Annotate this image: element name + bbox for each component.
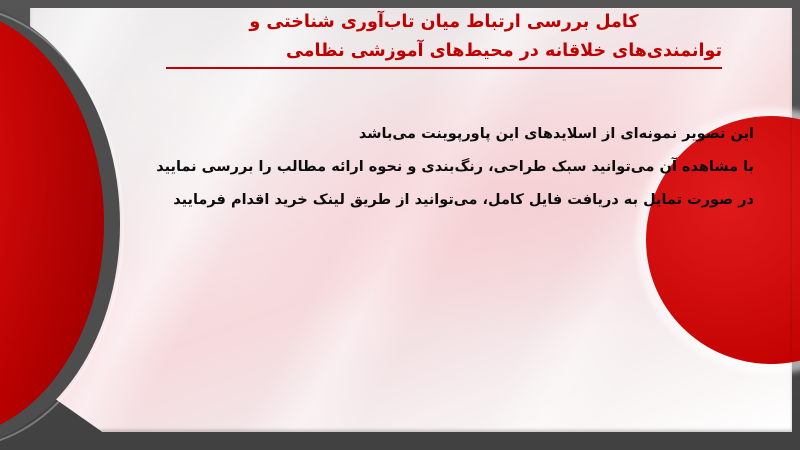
slide-body: این تصویر نمونه‌ای از اسلایدهای این پاور… [114,118,754,217]
body-line-1: این تصویر نمونه‌ای از اسلایدهای این پاور… [114,118,754,151]
presentation-slide: کامل بررسی ارتباط میان تاب‌آوری شناختی و… [0,0,800,450]
slide-title-line-2: توانمندی‌های خلاقانه در محیط‌های آموزشی … [166,37,722,69]
slide-title: کامل بررسی ارتباط میان تاب‌آوری شناختی و… [134,8,754,69]
slide-title-line-2-wrapper: توانمندی‌های خلاقانه در محیط‌های آموزشی … [134,37,754,69]
body-line-3: در صورت تمایل به دریافت فایل کامل، می‌تو… [114,184,754,217]
body-line-2: با مشاهده آن می‌توانید سبک طراحی، رنگ‌بن… [114,151,754,184]
slide-content: کامل بررسی ارتباط میان تاب‌آوری شناختی و… [0,0,800,450]
slide-title-line-1: کامل بررسی ارتباط میان تاب‌آوری شناختی و [134,8,754,37]
